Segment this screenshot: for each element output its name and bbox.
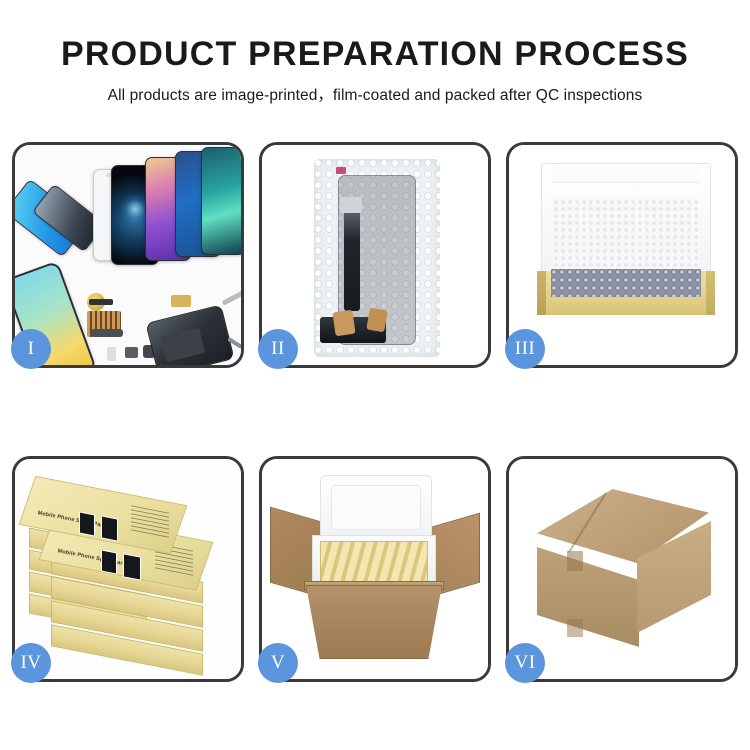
step-5-image — [262, 459, 488, 679]
step-badge-5: V — [258, 643, 298, 683]
step-badge-2: II — [258, 329, 298, 369]
part-small-1 — [107, 347, 116, 361]
part-gold-connector — [171, 295, 191, 307]
part-small-2 — [125, 347, 138, 358]
box-screen-image-top-1 — [79, 511, 95, 536]
lcd-tape-left — [332, 310, 355, 337]
process-step-4: Mobile Phone Spare Parts Mobile Phone Sp… — [12, 456, 244, 682]
step-badge-6: VI — [505, 643, 545, 683]
box-screen-image-front-2 — [123, 553, 141, 580]
box-bubble-padding — [551, 269, 701, 297]
carton-front-wall — [306, 585, 442, 659]
page-title: PRODUCT PREPARATION PROCESS — [0, 36, 750, 73]
step-badge-3: III — [505, 329, 545, 369]
pink-label-tag — [336, 167, 346, 174]
foam-box-lid — [320, 475, 432, 541]
carton-tape-upper — [567, 551, 583, 571]
lcd-tape-right — [366, 308, 388, 333]
lcd-flex-strip — [344, 203, 360, 311]
phone-screen-teal — [201, 147, 241, 255]
process-step-1: I — [12, 142, 244, 368]
yellow-boxes-inside — [320, 541, 428, 585]
step-1-image — [15, 145, 241, 365]
carton-tape-lower — [567, 619, 583, 637]
box-foam-sheet — [553, 199, 699, 273]
bubble-wrap-bag — [314, 159, 440, 357]
header: PRODUCT PREPARATION PROCESS All products… — [0, 0, 750, 105]
step-badge-4: IV — [11, 643, 51, 683]
part-bar — [89, 299, 113, 305]
carton-left-face — [537, 547, 639, 647]
step-6-image — [509, 459, 735, 679]
process-step-2: II — [259, 142, 491, 368]
process-step-3: III — [506, 142, 738, 368]
process-step-5: V — [259, 456, 491, 682]
product-preparation-infographic: PRODUCT PREPARATION PROCESS All products… — [0, 0, 750, 750]
box-tray-right-side — [706, 271, 715, 315]
step-2-image — [262, 145, 488, 365]
process-step-6: VI — [506, 456, 738, 682]
process-step-grid: I II — [12, 142, 738, 720]
box-lid-flap — [553, 167, 699, 183]
step-4-image: Mobile Phone Spare Parts Mobile Phone Sp… — [15, 459, 241, 679]
step-badge-1: I — [11, 329, 51, 369]
box-screen-image-top-2 — [101, 515, 118, 541]
step-3-image — [509, 145, 735, 365]
page-subtitle: All products are image-printed，film-coat… — [0, 83, 750, 105]
box-stack: Mobile Phone Spare Parts Mobile Phone Sp… — [21, 475, 237, 671]
lcd-connector — [340, 197, 362, 213]
box-screen-image-front-1 — [101, 549, 117, 574]
box-tray-left-side — [537, 271, 546, 315]
part-flex-cable-1 — [91, 329, 123, 337]
